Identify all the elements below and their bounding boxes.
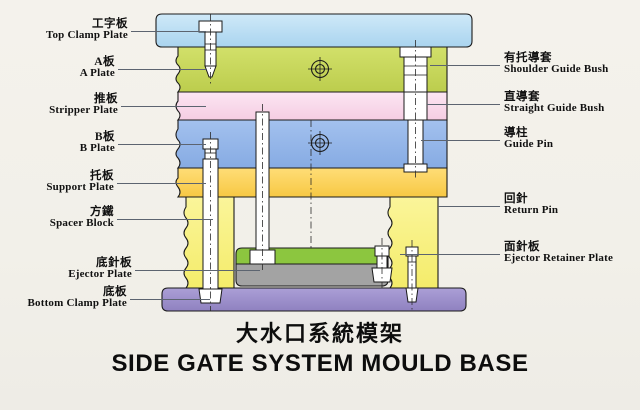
plate-ejector-plate — [236, 264, 388, 286]
leader-b-plate — [118, 144, 206, 145]
leader-ejector-plate — [135, 270, 260, 271]
label-guide-pin: 導柱 Guide Pin — [504, 127, 553, 151]
leader-guide-pin — [421, 140, 500, 141]
label-en: Guide Pin — [504, 139, 553, 151]
label-en: B Plate — [0, 143, 115, 155]
leader-return-pin — [438, 206, 500, 207]
label-en: Ejector Plate — [0, 269, 132, 281]
leader-straight-guide-bush — [427, 104, 500, 105]
label-en: A Plate — [0, 68, 115, 80]
label-top-clamp-plate: 工字板 Top Clamp Plate — [0, 18, 128, 42]
label-stripper-plate: 推板 Stripper Plate — [0, 93, 118, 117]
label-ejector-plate: 底針板 Ejector Plate — [0, 257, 132, 281]
label-b-plate: B板 B Plate — [0, 131, 115, 155]
label-return-pin: 回針 Return Pin — [504, 193, 558, 217]
leader-top-clamp-plate — [131, 31, 206, 32]
diagram-title: 大水口系統模架 SIDE GATE SYSTEM MOULD BASE — [0, 316, 640, 378]
leader-stripper-plate — [121, 106, 206, 107]
label-spacer-block: 方鐵 Spacer Block — [0, 206, 114, 230]
label-en: Straight Guide Bush — [504, 103, 604, 115]
label-bottom-clamp-plate: 底板 Bottom Clamp Plate — [0, 286, 127, 310]
label-en: Spacer Block — [0, 218, 114, 230]
label-en: Bottom Clamp Plate — [0, 298, 127, 310]
cap-screw-bottom-right — [406, 240, 418, 310]
leader-ejector-retainer-plate — [400, 254, 500, 255]
label-a-plate: A板 A Plate — [0, 56, 115, 80]
label-en: Shoulder Guide Bush — [504, 64, 608, 76]
label-en: Stripper Plate — [0, 105, 118, 117]
label-ejector-retainer-plate: 面針板 Ejector Retainer Plate — [504, 241, 613, 265]
leader-spacer-block — [117, 219, 213, 220]
title-cn: 大水口系統模架 — [0, 316, 640, 348]
leader-bottom-clamp-plate — [130, 299, 210, 300]
label-en: Ejector Retainer Plate — [504, 253, 613, 265]
title-en: SIDE GATE SYSTEM MOULD BASE — [0, 350, 640, 378]
label-shoulder-guide-bush: 有托導套 Shoulder Guide Bush — [504, 52, 608, 76]
leader-shoulder-guide-bush — [430, 65, 500, 66]
label-straight-guide-bush: 直導套 Straight Guide Bush — [504, 91, 604, 115]
label-support-plate: 托板 Support Plate — [0, 170, 114, 194]
diagram-page: .ol{stroke:#1b1b1b;stroke-width:1.1;} .t… — [0, 0, 640, 410]
label-en: Support Plate — [0, 182, 114, 194]
label-en: Return Pin — [504, 205, 558, 217]
leader-a-plate — [118, 69, 206, 70]
leader-support-plate — [117, 183, 206, 184]
label-en: Top Clamp Plate — [0, 30, 128, 42]
